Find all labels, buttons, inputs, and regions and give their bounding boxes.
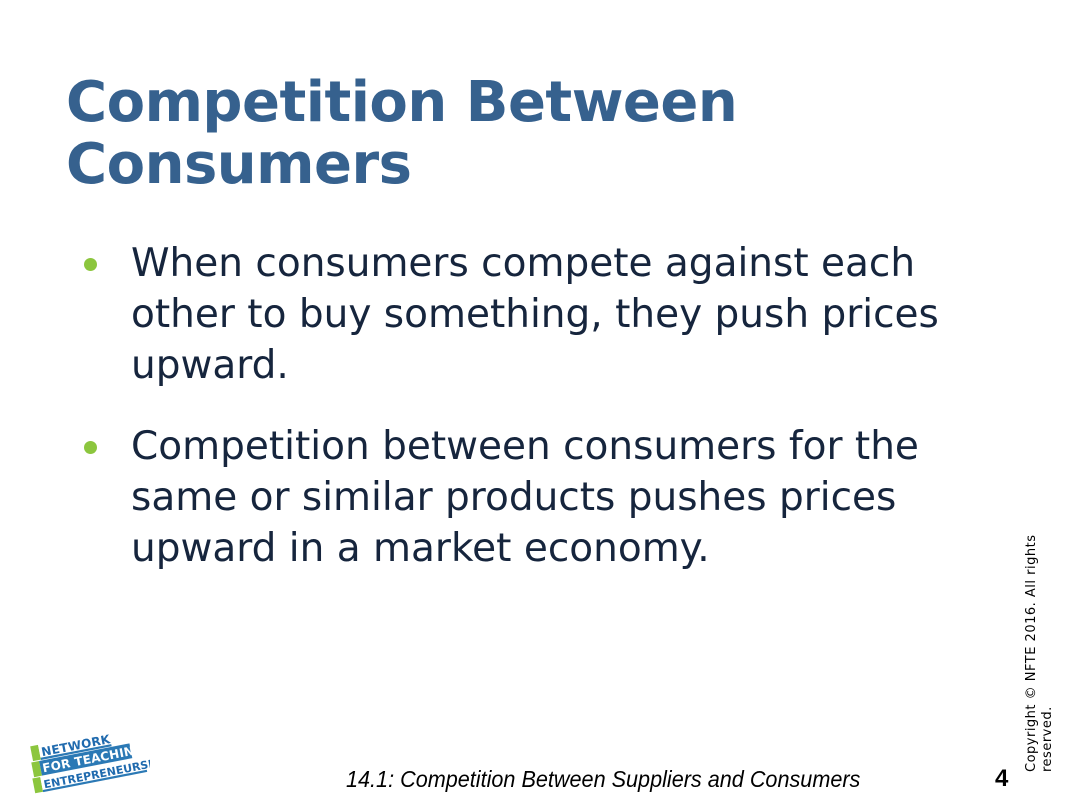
green-round-bullet-icon <box>84 441 97 454</box>
list-item-text: Competition between consumers for the sa… <box>131 424 919 571</box>
list-item: Competition between consumers for the sa… <box>76 421 991 574</box>
page-number: 4 <box>995 765 1008 793</box>
copyright-notice: Copyright © NFTE 2016. All rights reserv… <box>1024 514 1064 774</box>
green-round-bullet-icon <box>84 258 97 271</box>
footer-section-label: 14.1: Competition Between Suppliers and … <box>346 766 860 792</box>
copyright-text: Copyright © NFTE 2016. All rights reserv… <box>1024 514 1056 772</box>
bullet-list: When consumers compete against each othe… <box>76 238 991 574</box>
nfte-logo: NETWORK FOR TEACHING ENTREPRENEURSHIP <box>22 726 150 796</box>
slide-canvas: Competition Between Consumers When consu… <box>0 0 1080 810</box>
list-item: When consumers compete against each othe… <box>76 238 991 391</box>
page-title: Competition Between Consumers <box>66 72 886 196</box>
list-item-text: When consumers compete against each othe… <box>131 241 939 388</box>
